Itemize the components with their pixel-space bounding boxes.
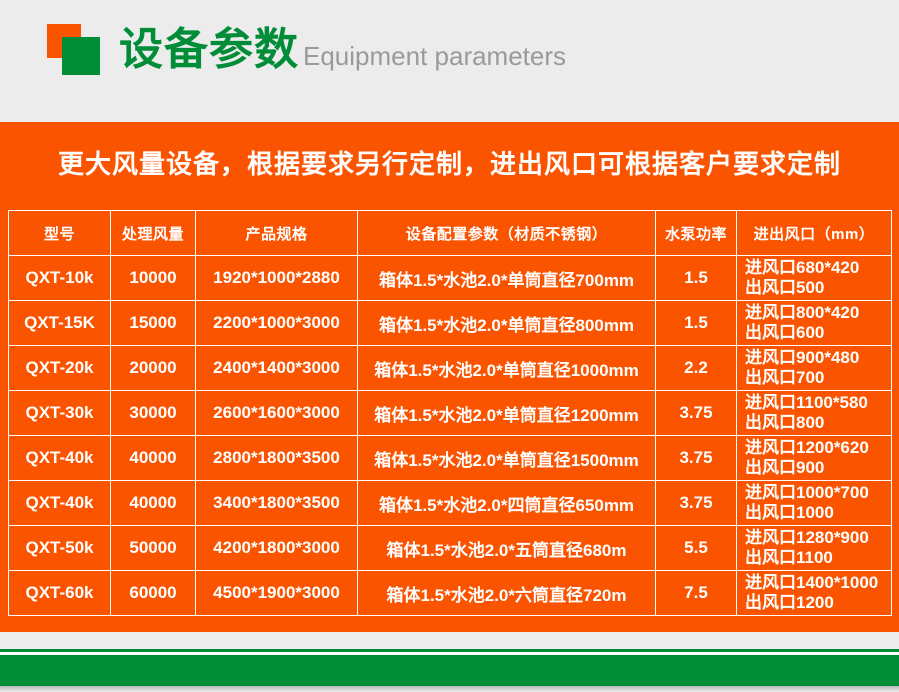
column-header-airflow: 处理风量 [111, 211, 196, 256]
logo-square-green [62, 37, 100, 75]
cell-model: QXT-20k [9, 346, 111, 391]
cell-config: 箱体1.5*水池2.0*单筒直径700mm [358, 256, 656, 301]
cell-model: QXT-10k [9, 256, 111, 301]
cell-pump: 3.75 [656, 391, 737, 436]
column-header-model: 型号 [9, 211, 111, 256]
column-header-config: 设备配置参数（材质不锈钢） [358, 211, 656, 256]
vent-outlet: 出风口1100 [745, 548, 891, 568]
equipment-parameters-table: 型号 处理风量 产品规格 设备配置参数（材质不锈钢） 水泵功率 进出风口（mm）… [8, 210, 892, 616]
vent-inlet: 进风口1280*900 [745, 528, 891, 548]
table-row: QXT-60k 60000 4500*1900*3000 箱体1.5*水池2.0… [9, 571, 892, 616]
cell-config: 箱体1.5*水池2.0*单筒直径1000mm [358, 346, 656, 391]
cell-pump: 1.5 [656, 301, 737, 346]
cell-spec: 1920*1000*2880 [196, 256, 358, 301]
cell-spec: 2200*1000*3000 [196, 301, 358, 346]
cell-airflow: 50000 [111, 526, 196, 571]
cell-pump: 7.5 [656, 571, 737, 616]
cell-config: 箱体1.5*水池2.0*单筒直径800mm [358, 301, 656, 346]
cell-airflow: 60000 [111, 571, 196, 616]
page-header: 设备参数 Equipment parameters [0, 0, 899, 122]
table-row: QXT-10k 10000 1920*1000*2880 箱体1.5*水池2.0… [9, 256, 892, 301]
cell-airflow: 40000 [111, 481, 196, 526]
vent-outlet: 出风口600 [745, 323, 891, 343]
vent-outlet: 出风口900 [745, 458, 891, 478]
cell-model: QXT-40k [9, 481, 111, 526]
vent-inlet: 进风口900*480 [745, 348, 891, 368]
cell-model: QXT-50k [9, 526, 111, 571]
cell-vent: 进风口800*420 出风口600 [737, 301, 892, 346]
panel-banner-text: 更大风量设备，根据要求另行定制，进出风口可根据客户要求定制 [0, 144, 899, 181]
cell-pump: 1.5 [656, 256, 737, 301]
table-header: 型号 处理风量 产品规格 设备配置参数（材质不锈钢） 水泵功率 进出风口（mm） [9, 211, 892, 256]
vent-inlet: 进风口680*420 [745, 258, 891, 278]
page-title: 设备参数 [119, 28, 299, 72]
cell-model: QXT-60k [9, 571, 111, 616]
vent-inlet: 进风口1400*1000 [745, 573, 891, 593]
bottom-gap [0, 632, 899, 649]
cell-vent: 进风口1200*620 出风口900 [737, 436, 892, 481]
cell-vent: 进风口1280*900 出风口1100 [737, 526, 892, 571]
cell-vent: 进风口680*420 出风口500 [737, 256, 892, 301]
cell-vent: 进风口1000*700 出风口1000 [737, 481, 892, 526]
vent-inlet: 进风口1100*580 [745, 393, 891, 413]
cell-airflow: 20000 [111, 346, 196, 391]
table-row: QXT-50k 50000 4200*1800*3000 箱体1.5*水池2.0… [9, 526, 892, 571]
vent-outlet: 出风口500 [745, 278, 891, 298]
cell-pump: 3.75 [656, 481, 737, 526]
cell-spec: 4200*1800*3000 [196, 526, 358, 571]
cell-airflow: 15000 [111, 301, 196, 346]
vent-outlet: 出风口700 [745, 368, 891, 388]
table-header-row: 型号 处理风量 产品规格 设备配置参数（材质不锈钢） 水泵功率 进出风口（mm） [9, 211, 892, 256]
cell-config: 箱体1.5*水池2.0*六筒直径720m [358, 571, 656, 616]
cell-pump: 3.75 [656, 436, 737, 481]
cell-spec: 2400*1400*3000 [196, 346, 358, 391]
cell-config: 箱体1.5*水池2.0*五筒直径680m [358, 526, 656, 571]
column-header-spec: 产品规格 [196, 211, 358, 256]
table-row: QXT-40k 40000 3400*1800*3500 箱体1.5*水池2.0… [9, 481, 892, 526]
cell-airflow: 10000 [111, 256, 196, 301]
vent-inlet: 进风口1000*700 [745, 483, 891, 503]
cell-airflow: 30000 [111, 391, 196, 436]
table-row: QXT-30k 30000 2600*1600*3000 箱体1.5*水池2.0… [9, 391, 892, 436]
cell-model: QXT-40k [9, 436, 111, 481]
cell-vent: 进风口1400*1000 出风口1200 [737, 571, 892, 616]
cell-model: QXT-15K [9, 301, 111, 346]
cell-spec: 2800*1800*3500 [196, 436, 358, 481]
cell-vent: 进风口900*480 出风口700 [737, 346, 892, 391]
cell-pump: 5.5 [656, 526, 737, 571]
table-row: QXT-15K 15000 2200*1000*3000 箱体1.5*水池2.0… [9, 301, 892, 346]
cell-model: QXT-30k [9, 391, 111, 436]
bottom-green-bar [0, 655, 899, 686]
column-header-pump: 水泵功率 [656, 211, 737, 256]
cell-config: 箱体1.5*水池2.0*单筒直径1500mm [358, 436, 656, 481]
cell-config: 箱体1.5*水池2.0*单筒直径1200mm [358, 391, 656, 436]
page-subtitle: Equipment parameters [303, 43, 566, 69]
vent-outlet: 出风口1000 [745, 503, 891, 523]
column-header-vent: 进出风口（mm） [737, 211, 892, 256]
cell-spec: 2600*1600*3000 [196, 391, 358, 436]
cell-pump: 2.2 [656, 346, 737, 391]
page-bottom-shadow [0, 686, 899, 692]
cell-spec: 4500*1900*3000 [196, 571, 358, 616]
cell-config: 箱体1.5*水池2.0*四筒直径650mm [358, 481, 656, 526]
cell-vent: 进风口1100*580 出风口800 [737, 391, 892, 436]
two-squares-logo-icon [47, 24, 109, 76]
cell-spec: 3400*1800*3500 [196, 481, 358, 526]
table-body: QXT-10k 10000 1920*1000*2880 箱体1.5*水池2.0… [9, 256, 892, 616]
page-root: 设备参数 Equipment parameters 更大风量设备，根据要求另行定… [0, 0, 899, 692]
vent-outlet: 出风口800 [745, 413, 891, 433]
parameters-panel: 更大风量设备，根据要求另行定制，进出风口可根据客户要求定制 型号 处理风量 产品… [0, 122, 899, 632]
table-row: QXT-20k 20000 2400*1400*3000 箱体1.5*水池2.0… [9, 346, 892, 391]
table-row: QXT-40k 40000 2800*1800*3500 箱体1.5*水池2.0… [9, 436, 892, 481]
vent-inlet: 进风口800*420 [745, 303, 891, 323]
cell-airflow: 40000 [111, 436, 196, 481]
vent-outlet: 出风口1200 [745, 593, 891, 613]
vent-inlet: 进风口1200*620 [745, 438, 891, 458]
